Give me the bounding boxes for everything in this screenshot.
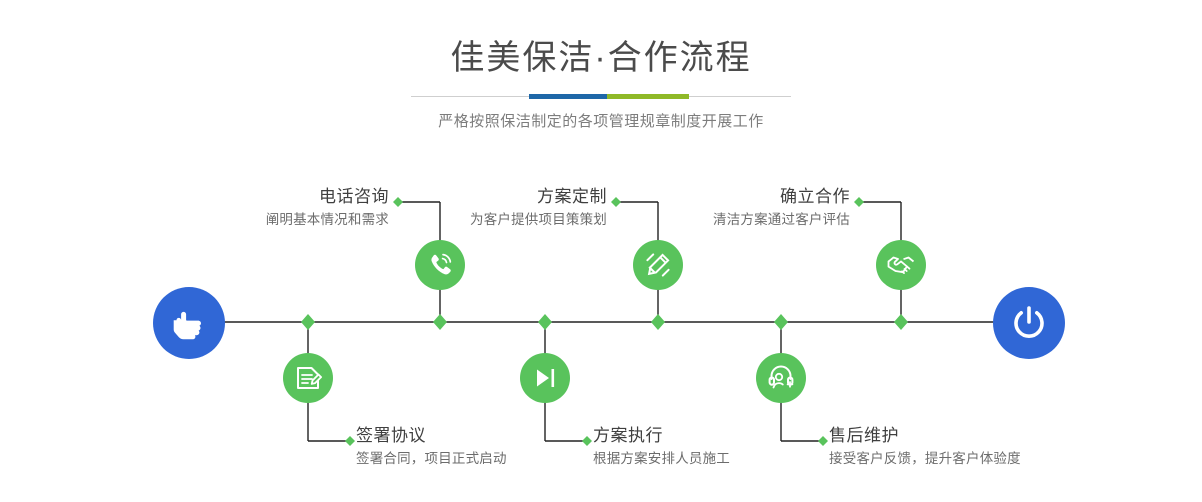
flow-end-node[interactable] [993, 287, 1065, 359]
power-icon [1008, 302, 1050, 344]
step-icon-5[interactable] [876, 240, 926, 290]
step-label-3: 方案定制 为客户提供项目策策划 [470, 186, 607, 230]
step-icon-2[interactable] [283, 353, 333, 403]
step-label-2: 签署协议 签署合同，项目正式启动 [356, 425, 507, 469]
label-diamond-step-3 [611, 197, 621, 207]
flow-infographic: 佳美保洁·合作流程 严格按照保洁制定的各项管理规章制度开展工作 [0, 0, 1202, 502]
play-next-icon [531, 364, 559, 392]
diamond-node-6 [894, 314, 908, 330]
step-title-6: 售后维护 [829, 425, 1021, 447]
pencil-edit-icon [644, 251, 672, 279]
diamond-node-2 [433, 314, 447, 330]
step-title-2: 签署协议 [356, 425, 507, 447]
step-desc-5: 清洁方案通过客户评估 [713, 210, 850, 230]
handshake-icon [886, 250, 916, 280]
step-label-5: 确立合作 清洁方案通过客户评估 [713, 186, 850, 230]
step-title-5: 确立合作 [713, 186, 850, 208]
label-diamond-step-2 [345, 436, 355, 446]
phone-call-icon [426, 251, 454, 279]
step-label-6: 售后维护 接受客户反馈，提升客户体验度 [829, 425, 1021, 469]
pointing-hand-icon [169, 303, 209, 343]
step-desc-1: 阐明基本情况和需求 [266, 210, 389, 230]
step-desc-6: 接受客户反馈，提升客户体验度 [829, 449, 1021, 469]
step-icon-6[interactable] [756, 353, 806, 403]
label-diamond-step-6 [818, 436, 828, 446]
step-label-1: 电话咨询 阐明基本情况和需求 [266, 186, 389, 230]
customer-support-icon [767, 364, 795, 392]
flow-start-node[interactable] [153, 287, 225, 359]
step-icon-3[interactable] [633, 240, 683, 290]
label-diamond-step-4 [582, 436, 592, 446]
step-icon-4[interactable] [520, 353, 570, 403]
diamond-node-3 [538, 314, 552, 330]
flow-diagram: 电话咨询 阐明基本情况和需求 方案定制 为客户提供项目策策划 确立合作 清洁方案… [0, 0, 1202, 502]
step-desc-3: 为客户提供项目策策划 [470, 210, 607, 230]
label-diamond-step-1 [393, 197, 403, 207]
diamond-node-1 [301, 314, 315, 330]
sign-document-icon [294, 364, 322, 392]
step-desc-2: 签署合同，项目正式启动 [356, 449, 507, 469]
diamond-node-5 [774, 314, 788, 330]
step-title-1: 电话咨询 [266, 186, 389, 208]
diamond-node-4 [651, 314, 665, 330]
label-diamond-step-5 [854, 197, 864, 207]
step-title-4: 方案执行 [593, 425, 730, 447]
step-title-3: 方案定制 [470, 186, 607, 208]
step-icon-1[interactable] [415, 240, 465, 290]
step-desc-4: 根据方案安排人员施工 [593, 449, 730, 469]
step-label-4: 方案执行 根据方案安排人员施工 [593, 425, 730, 469]
